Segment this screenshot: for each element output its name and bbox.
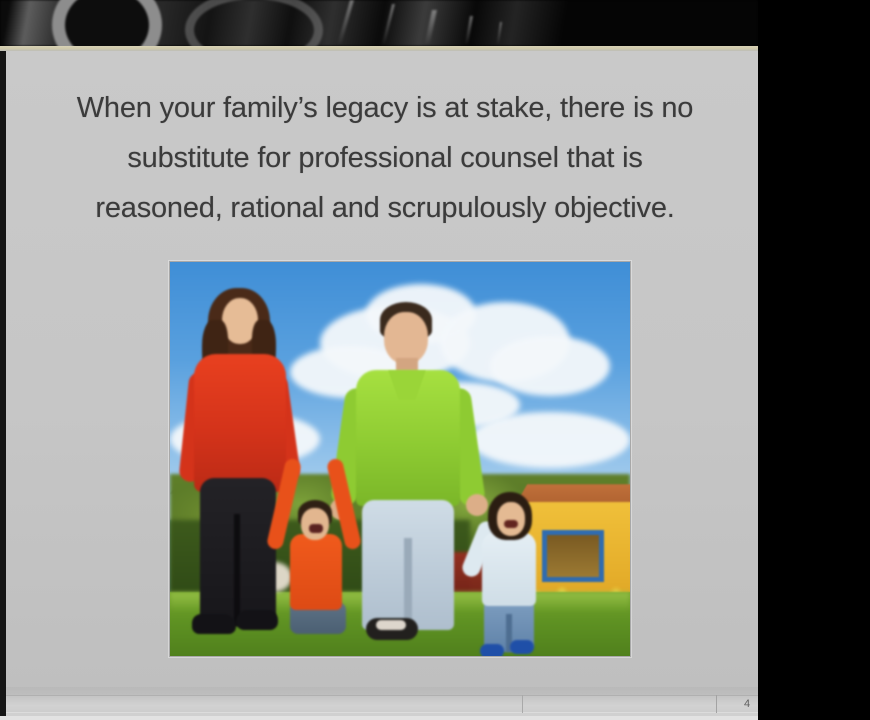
- screenshot-root: When your family’s legacy is at stake, t…: [0, 0, 870, 720]
- headline-line-3: reasoned, rational and scrupulously obje…: [40, 183, 730, 233]
- banner-streak-4: [465, 16, 473, 44]
- progress-scrubber[interactable]: [6, 695, 758, 713]
- photo-father-shoe-highlight: [376, 620, 406, 630]
- photo-house-window: [542, 530, 604, 582]
- family-photo: [169, 261, 631, 657]
- decorative-banner-image: [0, 0, 758, 46]
- banner-streak-1: [337, 0, 354, 44]
- photo-boy-orange-shirt: [290, 534, 342, 610]
- letterbox-right: [758, 0, 870, 720]
- slide-headline: When your family’s legacy is at stake, t…: [40, 83, 730, 233]
- photo-girl-mouth: [504, 520, 518, 528]
- photo-father-right-hand: [466, 494, 488, 516]
- photo-boy-mouth: [309, 524, 323, 533]
- photo-mother-red-jacket: [194, 354, 286, 492]
- photo-father-face: [384, 312, 428, 364]
- player-bar-bottom-edge: [0, 716, 758, 720]
- photo-girl-right-shoe: [510, 640, 534, 654]
- banner-streak-2: [382, 4, 395, 44]
- photo-father-leg-gap: [404, 538, 412, 630]
- photo-cloud-5: [490, 336, 610, 396]
- photo-girl-top: [482, 532, 536, 606]
- slide-content: When your family’s legacy is at stake, t…: [6, 51, 758, 687]
- photo-mother-left-shoe: [192, 614, 236, 634]
- headline-line-2: substitute for professional counsel that…: [40, 133, 730, 183]
- headline-line-1: When your family’s legacy is at stake, t…: [40, 83, 730, 133]
- banner-streak-3: [425, 10, 437, 44]
- presentation-slide: When your family’s legacy is at stake, t…: [0, 51, 758, 687]
- photo-mother-right-shoe: [236, 610, 278, 630]
- progress-divider-1: [522, 695, 523, 713]
- progress-divider-2: [716, 695, 717, 713]
- photo-mother-leg-gap: [234, 514, 240, 626]
- banner-streak-5: [497, 22, 502, 44]
- video-player-frame[interactable]: When your family’s legacy is at stake, t…: [0, 0, 870, 720]
- page-number: 4: [738, 696, 756, 712]
- photo-girl-face: [497, 502, 525, 536]
- photo-girl-left-shoe: [480, 644, 504, 657]
